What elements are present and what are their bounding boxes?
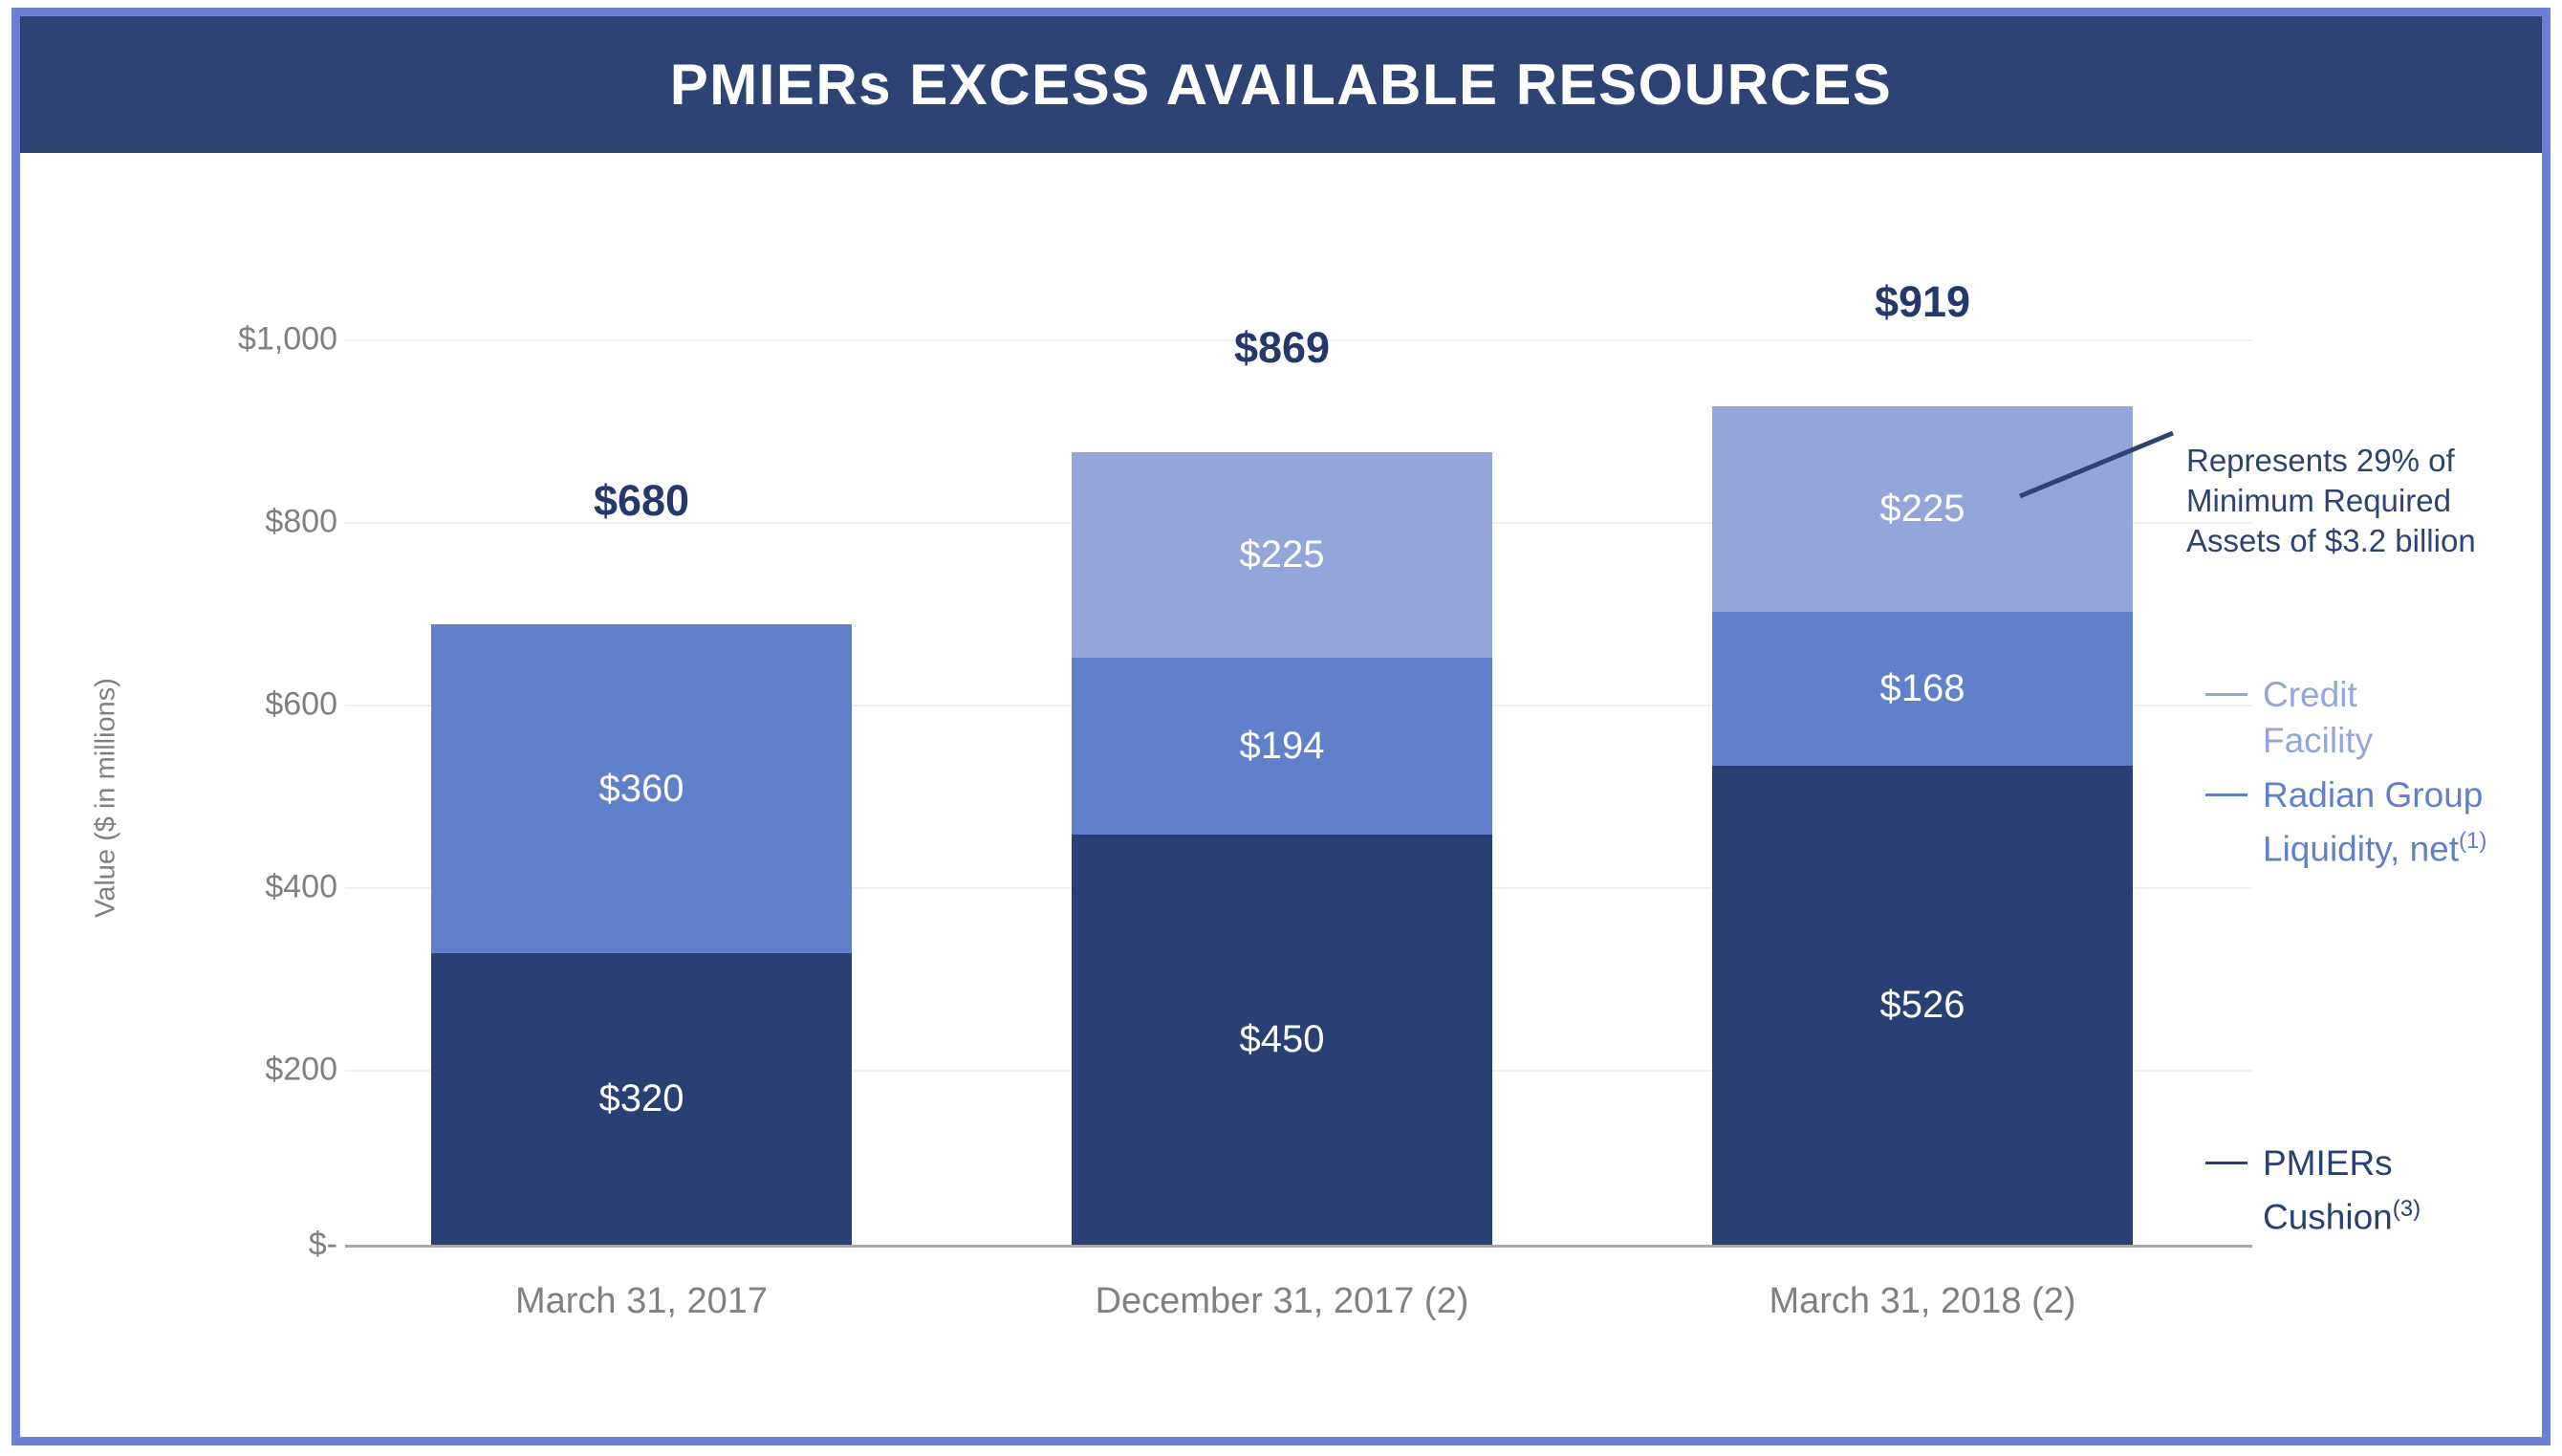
legend-swatch-icon-radian-group-liquidity: [2205, 793, 2247, 796]
x-axis-label-1: December 31, 2017 (2): [1014, 1281, 1550, 1322]
bar-segment-cushion-2[interactable]: $526: [1712, 766, 2133, 1245]
legend-label-line2: Liquidity, net: [2263, 829, 2459, 868]
chart-canvas: Value ($ in millions) $1,000 $800 $600 $…: [20, 170, 2542, 1438]
legend-label-pmiers-cushion: PMIERs Cushion(3): [2263, 1141, 2421, 1240]
annotation-line-1: Represents 29% of: [2186, 441, 2540, 481]
bar-total-label-0: $680: [431, 476, 852, 526]
x-axis-label-0: March 31, 2017: [374, 1281, 909, 1322]
legend-item-radian-group-liquidity[interactable]: Radian Group Liquidity, net(1): [2205, 772, 2486, 872]
legend-label-line1: PMIERs: [2263, 1143, 2393, 1183]
bar-segment-liquidity-1[interactable]: $194: [1072, 658, 1492, 835]
bar-segment-liquidity-0[interactable]: $360: [431, 624, 852, 953]
legend-label-line2: Facility: [2263, 721, 2373, 760]
annotation-line-2: Minimum Required: [2186, 481, 2540, 521]
legend-item-pmiers-cushion[interactable]: PMIERs Cushion(3): [2205, 1141, 2421, 1240]
legend-label-line2: Cushion: [2263, 1197, 2393, 1236]
annotation-leader-line-icon: [1961, 438, 2209, 572]
page-title: PMIERs EXCESS AVAILABLE RESOURCES: [670, 52, 1893, 118]
legend-swatch-icon-credit-facility: [2205, 693, 2247, 696]
legend-swatch-icon-pmiers-cushion: [2205, 1162, 2247, 1164]
legend-item-credit-facility[interactable]: Credit Facility: [2205, 672, 2373, 764]
legend-footnote-1: (1): [2459, 828, 2486, 854]
bar-segment-cushion-1[interactable]: $450: [1072, 835, 1492, 1245]
legend-footnote-3: (3): [2393, 1196, 2421, 1222]
bar-total-label-2: $919: [1712, 277, 2133, 327]
bar-segment-credit-1[interactable]: $225: [1072, 452, 1492, 658]
annotation-line-3: Assets of $3.2 billion: [2186, 521, 2540, 561]
legend-label-credit-facility: Credit Facility: [2263, 672, 2373, 764]
bar-segment-cushion-0[interactable]: $320: [431, 953, 852, 1245]
legend-label-radian-group-liquidity: Radian Group Liquidity, net(1): [2263, 772, 2486, 872]
x-axis-label-2: March 31, 2018 (2): [1655, 1281, 2190, 1322]
slide-root: PMIERs EXCESS AVAILABLE RESOURCES Value …: [0, 0, 2562, 1456]
annotation-callout: Represents 29% of Minimum Required Asset…: [2186, 441, 2540, 561]
title-band: PMIERs EXCESS AVAILABLE RESOURCES: [20, 16, 2542, 153]
bar-segment-liquidity-2[interactable]: $168: [1712, 612, 2133, 766]
bar-total-label-1: $869: [1072, 323, 1492, 373]
legend-label-line1: Radian Group: [2263, 775, 2483, 815]
bars-layer: $680 $360 $320 $869 $225 $194 $450 $919 …: [20, 170, 2542, 1438]
legend-label-line1: Credit: [2263, 675, 2357, 714]
